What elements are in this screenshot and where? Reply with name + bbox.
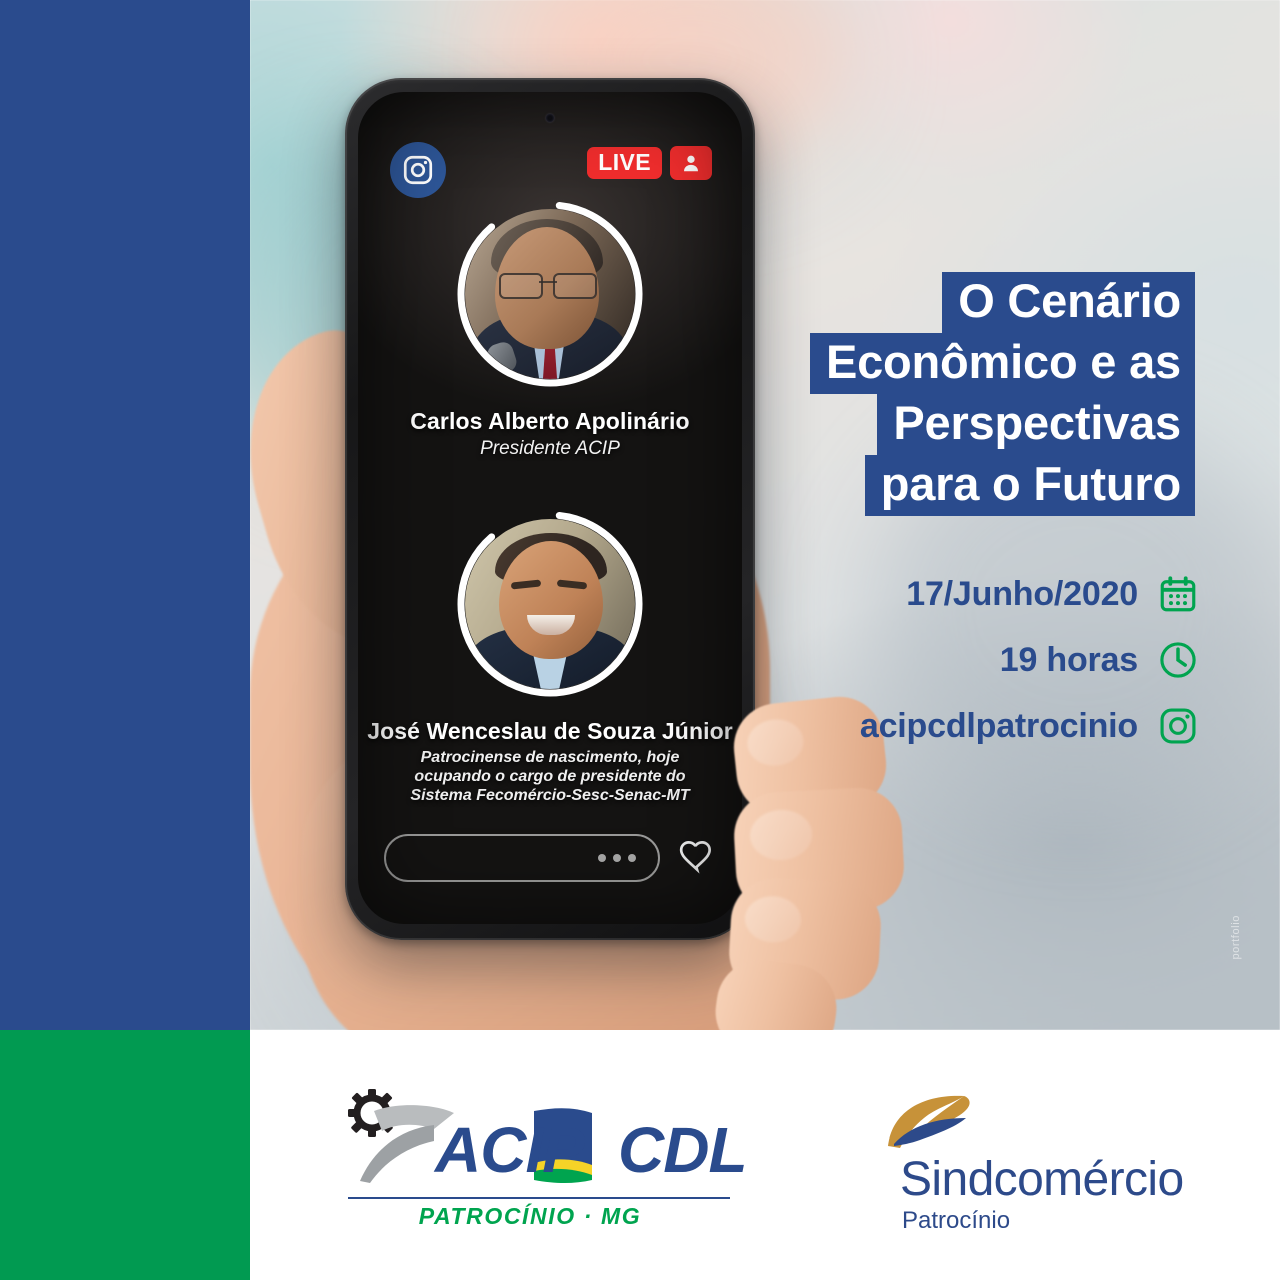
watermark: portfolio bbox=[1230, 915, 1242, 960]
live-badge: LIVE bbox=[587, 147, 662, 179]
event-instagram-row[interactable]: acipcdlpatrocinio bbox=[860, 704, 1200, 748]
front-camera bbox=[546, 114, 554, 122]
heart-icon[interactable] bbox=[678, 837, 716, 880]
poster-canvas: LIVE bbox=[0, 0, 1280, 1280]
avatar bbox=[465, 519, 635, 689]
sindcomercio-logo: Sindcomércio Patrocínio bbox=[880, 1090, 1200, 1240]
instagram-icon[interactable] bbox=[390, 142, 446, 198]
acip-cdl-logo: ACIP CDL PATROCÍNIO · MG bbox=[330, 1085, 730, 1235]
event-details: 17/Junho/2020 19 horas bbox=[860, 572, 1200, 748]
speaker-name: Carlos Alberto Apolinário bbox=[410, 408, 689, 435]
avatar bbox=[465, 209, 635, 379]
logo-divider bbox=[348, 1197, 730, 1199]
speaker-photo-2 bbox=[465, 519, 635, 689]
comment-input[interactable] bbox=[384, 834, 660, 882]
sidebar-blue-band bbox=[0, 0, 250, 1030]
speaker-card-2: José Wenceslau de Souza Júnior Patrocine… bbox=[358, 508, 742, 806]
speaker-name: José Wenceslau de Souza Júnior bbox=[367, 718, 733, 745]
acip-wordmark: ACIP bbox=[435, 1113, 584, 1187]
smartphone-device: LIVE bbox=[345, 78, 755, 940]
person-icon bbox=[670, 146, 712, 180]
acip-subtitle: PATROCÍNIO · MG bbox=[330, 1203, 730, 1230]
sindcomercio-city: Patrocínio bbox=[902, 1207, 1010, 1235]
cdl-wordmark: CDL bbox=[618, 1113, 747, 1187]
calendar-icon bbox=[1156, 572, 1200, 616]
speaker-card-1: Carlos Alberto Apolinário Presidente ACI… bbox=[358, 198, 742, 460]
instagram-handle: acipcdlpatrocinio bbox=[860, 707, 1138, 746]
speaker-photo-1 bbox=[465, 209, 635, 379]
phone-action-bar bbox=[384, 834, 716, 882]
sidebar-green-band bbox=[0, 1030, 250, 1280]
title-line: Perspectivas bbox=[877, 394, 1195, 455]
sindcomercio-wordmark: Sindcomércio bbox=[900, 1152, 1184, 1207]
instagram-icon[interactable] bbox=[1156, 704, 1200, 748]
speaker-role: Presidente ACIP bbox=[480, 438, 620, 460]
clock-icon bbox=[1156, 638, 1200, 682]
ellipsis-icon bbox=[598, 854, 606, 862]
title-line: para o Futuro bbox=[865, 455, 1195, 516]
avatar-ring bbox=[454, 508, 646, 700]
title-line: O Cenário bbox=[942, 272, 1195, 333]
event-date: 17/Junho/2020 bbox=[906, 575, 1138, 614]
speaker-bio: Patrocinense de nascimento, hoje ocupand… bbox=[385, 749, 715, 806]
live-status-group: LIVE bbox=[587, 146, 712, 180]
title-line: Econômico e as bbox=[810, 333, 1195, 394]
phone-screen: LIVE bbox=[358, 92, 742, 924]
avatar-ring bbox=[454, 198, 646, 390]
feather-swoosh-icon bbox=[880, 1090, 1080, 1152]
event-time-row: 19 horas bbox=[1000, 638, 1200, 682]
page-title: O Cenário Econômico e as Perspectivas pa… bbox=[810, 272, 1195, 516]
event-time: 19 horas bbox=[1000, 641, 1138, 680]
event-date-row: 17/Junho/2020 bbox=[906, 572, 1200, 616]
